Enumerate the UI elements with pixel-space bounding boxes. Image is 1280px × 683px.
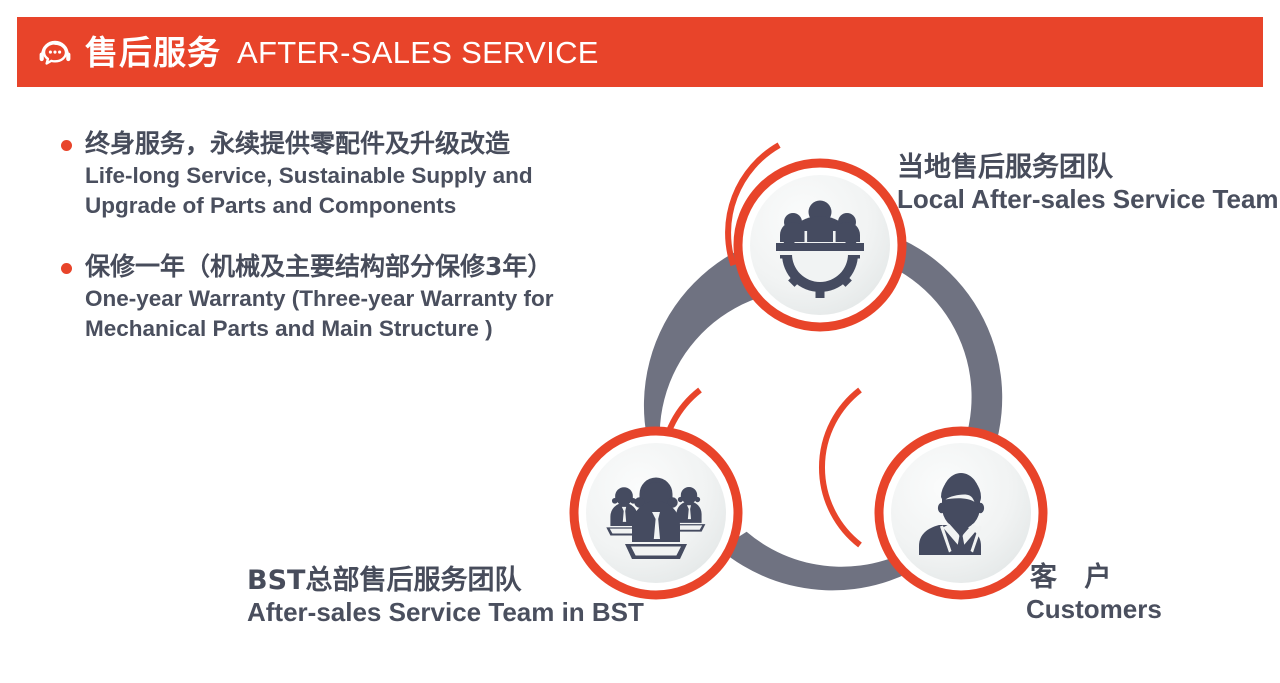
- node-local-team[interactable]: [738, 163, 902, 327]
- accent-arc-right: [822, 390, 860, 545]
- label-customers: 客 户 Customers: [1026, 562, 1162, 625]
- bullet-text-cn: 终身服务，永续提供零配件及升级改造: [85, 128, 635, 160]
- bullet-text-en-line2: Upgrade of Parts and Components: [85, 191, 635, 221]
- label-customers-cn: 客 户: [1026, 562, 1162, 594]
- label-bst-team: BST总部售后服务团队 After-sales Service Team in …: [247, 565, 644, 628]
- label-customers-en: Customers: [1026, 594, 1162, 625]
- bullet-item-warranty: 保修一年（机械及主要结构部分保修3年） One-year Warranty (T…: [55, 251, 635, 344]
- bullet-text-en-line1: Life-long Service, Sustainable Supply an…: [85, 161, 635, 191]
- bullet-dot-icon: [61, 263, 72, 274]
- bullet-dot-icon: [61, 140, 72, 151]
- header-banner: 售后服务 AFTER-SALES SERVICE: [17, 17, 1263, 87]
- bullet-list: 终身服务，永续提供零配件及升级改造 Life-long Service, Sus…: [55, 128, 635, 374]
- bullet-item-lifelong-service: 终身服务，永续提供零配件及升级改造 Life-long Service, Sus…: [55, 128, 635, 221]
- bullet-text-en-line2: Mechanical Parts and Main Structure ): [85, 314, 635, 344]
- banner-title-en: AFTER-SALES SERVICE: [237, 37, 599, 68]
- bullet-text-en-line1: One-year Warranty (Three-year Warranty f…: [85, 284, 635, 314]
- headset-chat-icon: [35, 32, 75, 72]
- bullet-text-cn: 保修一年（机械及主要结构部分保修3年）: [85, 251, 635, 283]
- label-bst-team-cn: BST总部售后服务团队: [247, 565, 644, 597]
- node-customers[interactable]: [879, 431, 1043, 595]
- label-local-team-cn: 当地售后服务团队: [897, 152, 1279, 184]
- label-local-team: 当地售后服务团队 Local After-sales Service Team: [897, 152, 1279, 215]
- slide-root: 售后服务 AFTER-SALES SERVICE 终身服务，永续提供零配件及升级…: [0, 0, 1280, 683]
- label-bst-team-en: After-sales Service Team in BST: [247, 597, 644, 628]
- label-local-team-en: Local After-sales Service Team: [897, 184, 1279, 215]
- banner-title-cn: 售后服务: [85, 36, 221, 69]
